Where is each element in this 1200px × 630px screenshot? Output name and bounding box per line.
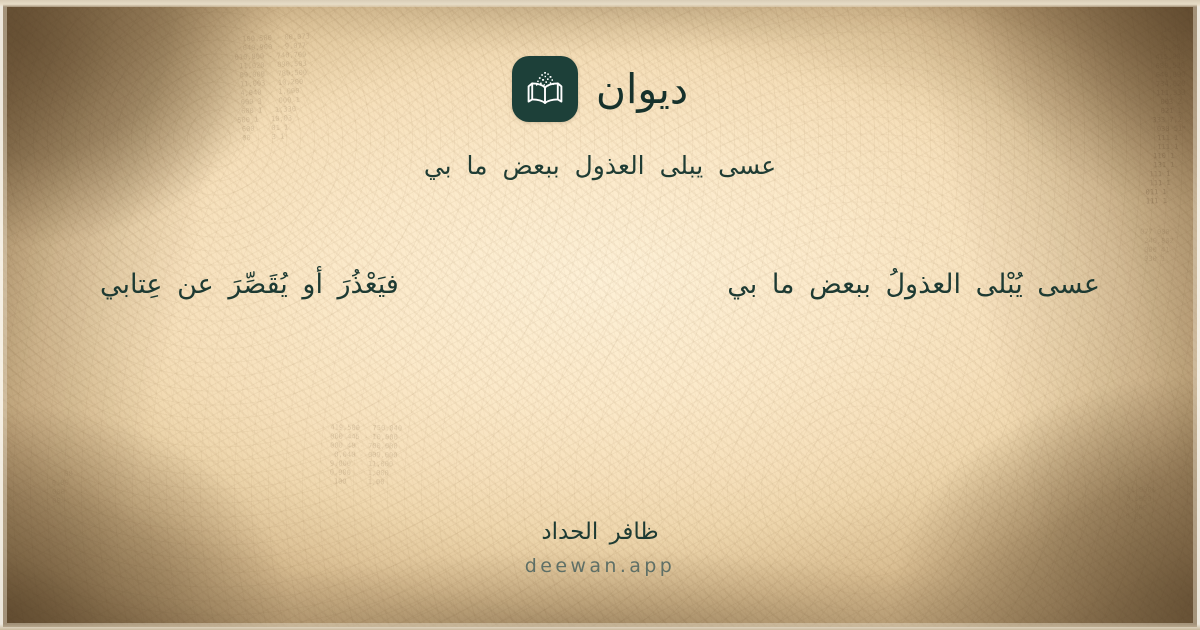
verse-second-hemistich: فيَعْذُرَ أو يُقَصِّرَ عن عِتابي (100, 263, 399, 306)
open-book-sparkles-icon (512, 56, 578, 122)
poem-title: عسى يبلى العذول ببعض ما بي (424, 147, 776, 185)
brand-header[interactable]: ديوان (512, 56, 688, 122)
verse-line: عسى يُبْلى العذولُ ببعض ما بي فيَعْذُرَ … (100, 263, 1100, 306)
site-url[interactable]: deewan.app (525, 555, 675, 578)
brand-wordmark: ديوان (596, 69, 688, 110)
card-footer: ظافر الحداد deewan.app (0, 518, 1200, 578)
card-content: ديوان عسى يبلى العذول ببعض ما بي عسى يُب… (0, 0, 1200, 630)
verse-first-hemistich: عسى يُبْلى العذولُ ببعض ما بي (727, 263, 1100, 306)
poem-card: 10,032 - 49,900 34,090 415,003 680,520 6… (0, 0, 1200, 630)
poet-name: ظافر الحداد (541, 518, 658, 548)
